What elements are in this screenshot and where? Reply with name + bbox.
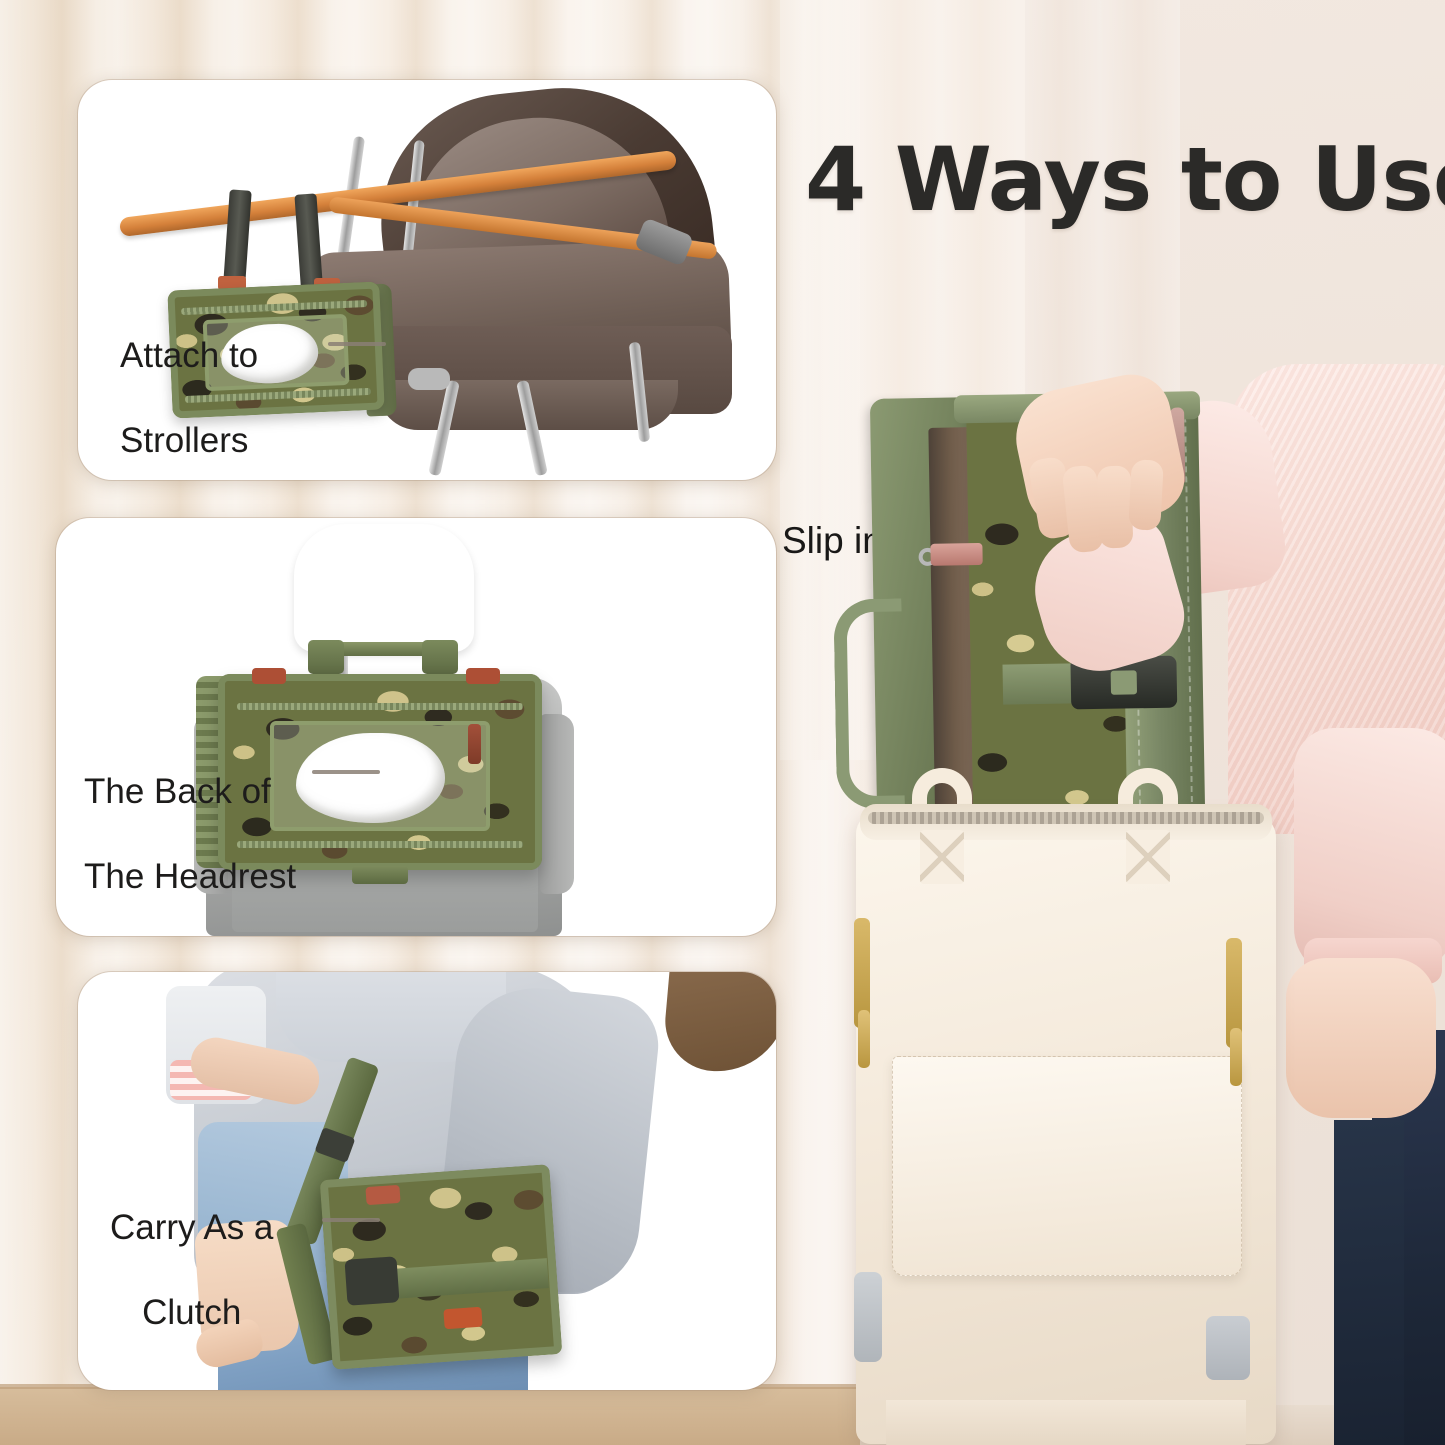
- caption-line-1: Attach to: [120, 336, 258, 375]
- zipper-pull: [468, 724, 481, 764]
- person-hand-lower: [1286, 958, 1436, 1118]
- caption-back-of-headrest: The Back of The Headrest: [84, 728, 296, 899]
- bottom-webbing-loop: [352, 866, 408, 884]
- red-pull-tab: [443, 1307, 482, 1330]
- headrest-strap: [308, 640, 344, 674]
- pink-strap-tab: [930, 543, 982, 566]
- red-pull-tab: [252, 668, 286, 684]
- backpack-zipper-pull: [1230, 1028, 1242, 1086]
- handle-anchor-stitch: [1126, 830, 1170, 884]
- panel-carry-as-clutch: Carry As a Clutch: [78, 972, 776, 1390]
- page-title: 4 Ways to Use: [805, 128, 1445, 231]
- panel-attach-to-strollers: Attach to Strollers: [78, 80, 776, 480]
- caption-line-1: Carry As a: [110, 1208, 273, 1247]
- caption-line-2: Clutch: [110, 1292, 273, 1335]
- clutch-buckle: [344, 1256, 399, 1306]
- scene-slip-into-diaper-bag: [842, 330, 1445, 1445]
- connector-dash: [312, 770, 380, 774]
- caption-attach-to-strollers: Attach to Strollers: [120, 292, 258, 463]
- car-headrest: [294, 524, 474, 652]
- caption-line-1: The Back of: [84, 772, 271, 811]
- backpack-grey-tab: [854, 1272, 882, 1362]
- backpack-grey-tab: [1206, 1316, 1250, 1380]
- caption-line-2: Strollers: [120, 421, 248, 460]
- finger: [1128, 459, 1164, 531]
- backpack-main-zipper: [868, 812, 1264, 824]
- handle-anchor-stitch: [920, 830, 964, 884]
- panel-back-of-headrest: The Back of The Headrest: [56, 518, 776, 936]
- caption-line-2: The Headrest: [84, 857, 296, 896]
- seat-side-wing: [540, 714, 574, 894]
- connector-dash: [322, 1218, 380, 1222]
- backpack-front-flap-pocket: [892, 1056, 1242, 1276]
- caption-carry-as-clutch: Carry As a Clutch: [110, 1164, 273, 1377]
- backpack-bottom-panel: [886, 1400, 1246, 1445]
- red-pull-tab: [365, 1185, 400, 1205]
- backpack-zipper-pull: [858, 1010, 870, 1068]
- buckle-release-notch: [1111, 670, 1137, 694]
- finger: [1097, 465, 1134, 548]
- connector-dash: [328, 342, 386, 346]
- mother-hair: [661, 972, 776, 1077]
- diaper-backpack: [846, 760, 1296, 1445]
- red-pull-tab: [466, 668, 500, 684]
- floor-strip: [0, 1387, 905, 1445]
- headrest-strap: [422, 640, 458, 674]
- person-trousers-leg: [1334, 1120, 1404, 1445]
- stroller-wheel-hub: [408, 368, 450, 390]
